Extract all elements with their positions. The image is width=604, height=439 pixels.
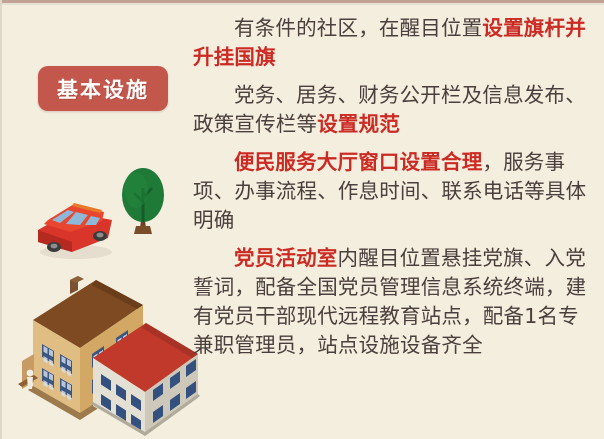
green-tree-icon [122, 168, 164, 234]
text-column: 有条件的社区，在醒目位置设置旗杆并升挂国旗 党务、居务、财务公开栏及信息发布、政… [193, 14, 595, 360]
emphasis-text: 设置规范 [317, 112, 400, 136]
red-car-icon [38, 203, 112, 259]
paragraph-service-hall: 便民服务大厅窗口设置合理，服务事项、办事流程、作息时间、联系电话等具体明确 [193, 148, 595, 235]
paragraph-flagpole: 有条件的社区，在醒目位置设置旗杆并升挂国旗 [193, 14, 595, 72]
infographic-poster: 基本设施 [0, 0, 604, 439]
body-text: 有条件的社区，在醒目位置 [234, 16, 482, 40]
emphasis-text: 党员活动室 [234, 246, 338, 270]
section-badge-label: 基本设施 [57, 74, 149, 104]
paragraph-public-affairs-boards: 党务、居务、财务公开栏及信息发布、政策宣传栏等设置规范 [193, 81, 595, 139]
left-border-rule [0, 0, 2, 439]
emphasis-text: 便民服务大厅窗口设置合理 [234, 150, 482, 174]
section-badge: 基本设施 [38, 66, 168, 111]
paragraph-party-member-room: 党员活动室内醒目位置悬挂党旗、入党誓词，配备全国党员管理信息系统终端，建有党员干… [193, 244, 595, 360]
top-border-rule-secondary [0, 3, 604, 5]
village-illustration [8, 168, 208, 436]
